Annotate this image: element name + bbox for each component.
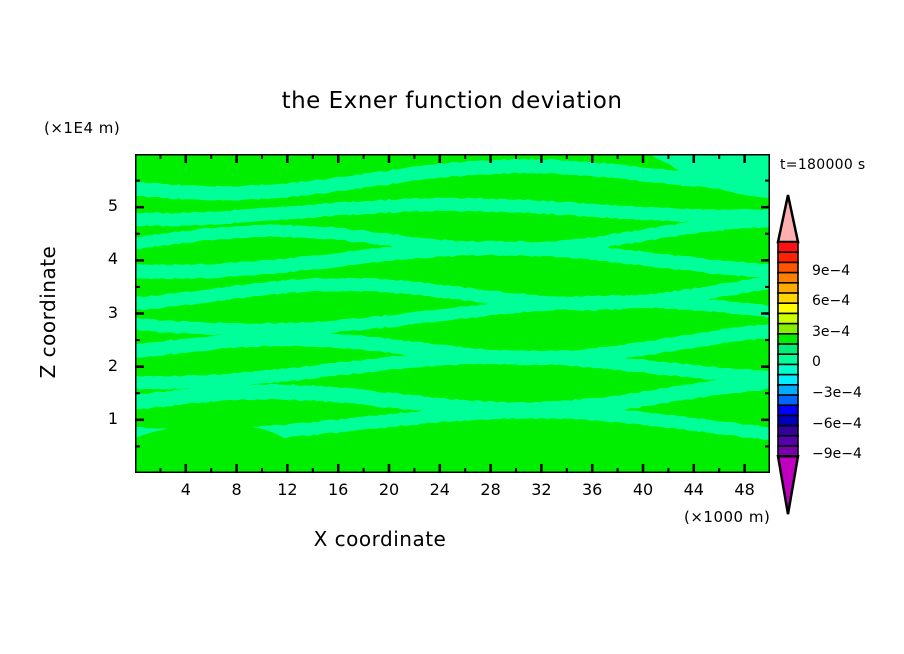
colorbar-tick-label: 6e−4 xyxy=(812,293,850,309)
page-title: the Exner function deviation xyxy=(0,88,904,114)
x-tick-label: 32 xyxy=(521,480,561,499)
x-tick-label: 40 xyxy=(623,480,663,499)
colorbar xyxy=(770,190,810,520)
x-axis-unit-label: (×1000 m) xyxy=(684,508,770,526)
x-tick-label: 20 xyxy=(369,480,409,499)
colorbar-tick-label: 9e−4 xyxy=(812,263,850,279)
x-tick-label: 36 xyxy=(572,480,612,499)
x-tick-label: 44 xyxy=(674,480,714,499)
time-annotation: t=180000 s xyxy=(780,157,865,173)
colorbar-tick-label: −3e−4 xyxy=(812,385,862,401)
y-tick-label: 5 xyxy=(101,196,125,215)
y-tick-label: 3 xyxy=(101,303,125,322)
colorbar-tick-label: 3e−4 xyxy=(812,324,850,340)
colorbar-tick-label: −9e−4 xyxy=(812,446,862,462)
y-axis-title: Z coordinate xyxy=(36,202,60,422)
x-tick-label: 12 xyxy=(267,480,307,499)
y-tick-label: 1 xyxy=(101,409,125,428)
colorbar-tick-label: 0 xyxy=(812,354,821,370)
y-axis-unit-label: (×1E4 m) xyxy=(44,119,120,137)
x-tick-label: 8 xyxy=(217,480,257,499)
contour-plot xyxy=(135,154,770,473)
colorbar-tick-label: −6e−4 xyxy=(812,416,862,432)
y-tick-label: 4 xyxy=(101,249,125,268)
x-tick-label: 4 xyxy=(166,480,206,499)
x-tick-label: 48 xyxy=(725,480,765,499)
x-tick-label: 16 xyxy=(318,480,358,499)
y-tick-label: 2 xyxy=(101,356,125,375)
x-tick-label: 24 xyxy=(420,480,460,499)
x-tick-label: 28 xyxy=(471,480,511,499)
x-axis-title: X coordinate xyxy=(0,527,760,551)
